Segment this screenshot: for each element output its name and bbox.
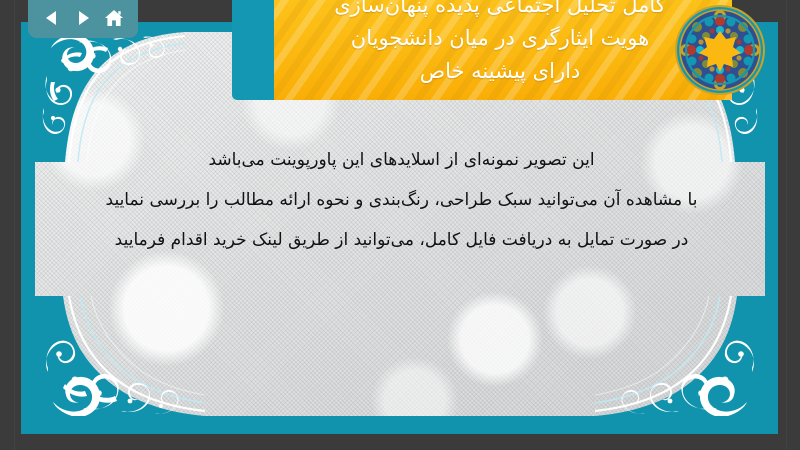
slide-title-banner: کامل تحلیل اجتماعی پدیده پنهان‌سازی هویت… [232,0,732,100]
banner-body: کامل تحلیل اجتماعی پدیده پنهان‌سازی هویت… [274,0,732,100]
body-line-2: با مشاهده آن می‌توانید سبک طراحی، رنگ‌بن… [61,180,742,220]
title-line-1: کامل تحلیل اجتماعی پدیده پنهان‌سازی [278,0,722,22]
home-icon [103,8,125,28]
body-line-3: در صورت تمایل به دریافت فایل کامل، می‌تو… [61,220,742,260]
title-line-3: دارای پیشینه خاص [278,55,722,88]
home-button[interactable] [102,6,126,30]
banner-left-cap [232,0,274,100]
slide-navigation-bar[interactable] [28,0,138,38]
slide-title-text: کامل تحلیل اجتماعی پدیده پنهان‌سازی هویت… [278,0,722,88]
back-button[interactable] [40,6,64,30]
left-triangle-icon [42,8,62,28]
persian-mandala-medallion-icon [673,3,767,97]
title-line-2: هویت ایثارگری در میان دانشجویان [278,22,722,55]
body-line-1: این تصویر نمونه‌ای از اسلایدهای این پاور… [61,140,742,180]
slide-body-text: این تصویر نمونه‌ای از اسلایدهای این پاور… [61,140,742,260]
forward-button[interactable] [71,6,95,30]
slide-preview-window: این تصویر نمونه‌ای از اسلایدهای این پاور… [0,0,800,450]
right-triangle-icon [73,8,93,28]
